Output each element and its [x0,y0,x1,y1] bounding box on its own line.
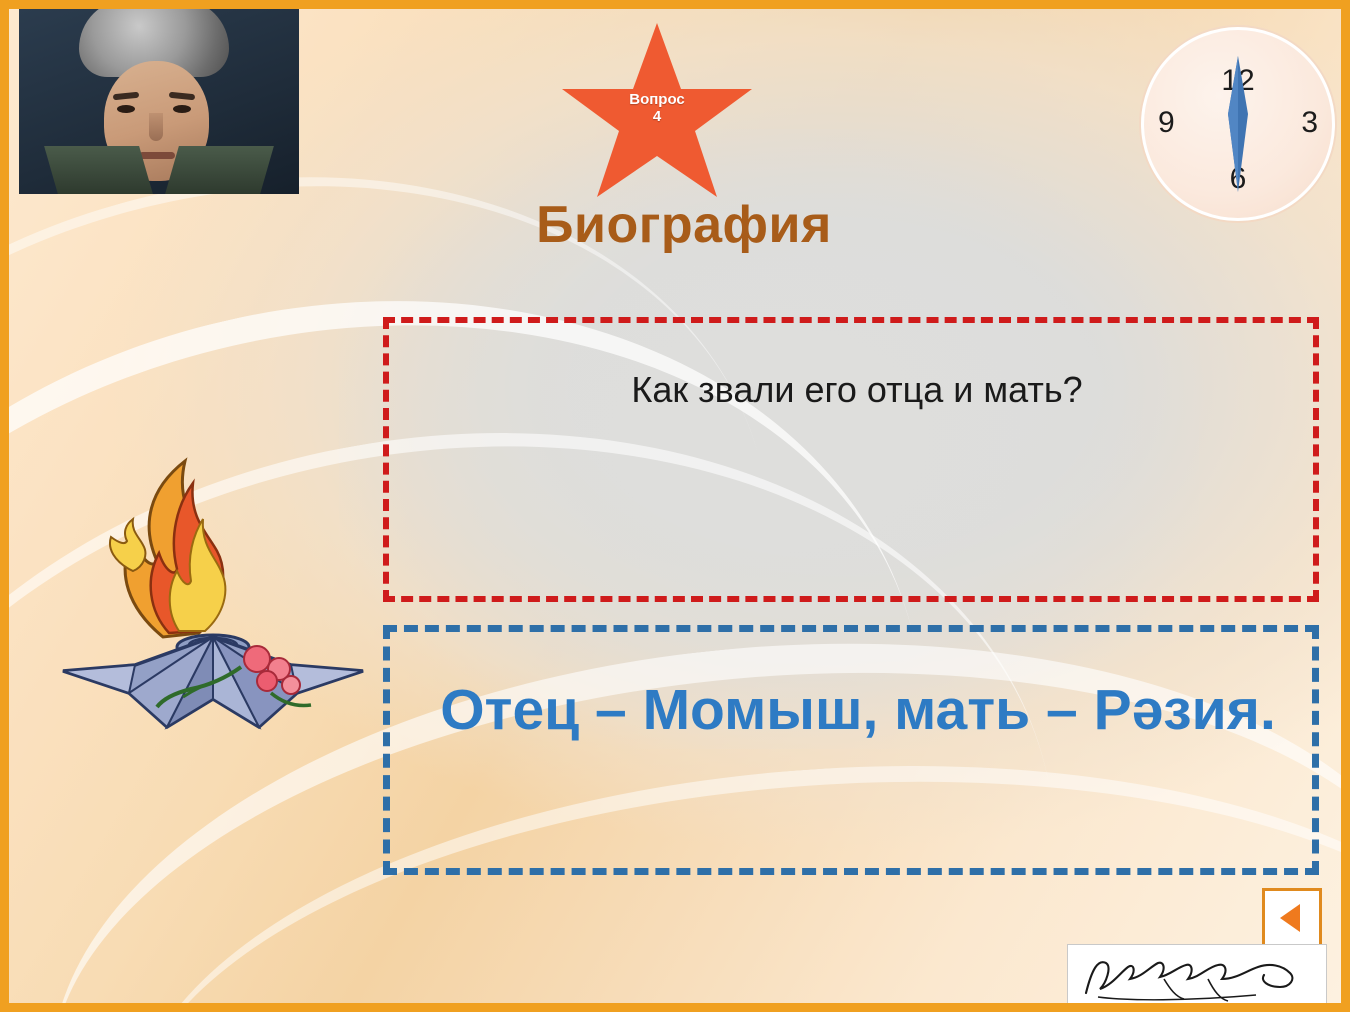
question-word-label: Вопрос [561,91,753,108]
answer-panel: Отец – Момыш, мать – Рәзия. [383,625,1319,875]
back-button[interactable] [1262,888,1322,948]
eye-shape [117,105,135,113]
uniform-collar-shape [44,146,153,194]
clock-hand-icon [1221,56,1255,192]
signature-image [1067,944,1327,1012]
question-index-label: 4 [561,108,753,125]
mouth-shape [139,152,175,159]
clock-icon: 12 3 6 9 [1141,27,1335,221]
question-number-label: Вопрос 4 [561,91,753,126]
question-text: Как звали его отца и мать? [389,369,1325,411]
uniform-collar-shape [165,146,274,194]
nose-shape [149,113,163,141]
question-panel: Как звали его отца и мать? [383,317,1319,602]
answer-text: Отец – Момыш, мать – Рәзия. [408,674,1308,747]
question-number-badge: Вопрос 4 [561,19,753,201]
clock-numeral-3: 3 [1301,106,1318,140]
clock-numeral-9: 9 [1158,106,1175,140]
eye-shape [173,105,191,113]
eternal-flame-icon [45,441,375,731]
triangle-left-icon[interactable] [1275,901,1309,935]
handwritten-signature-icon [1068,945,1326,1011]
slide-canvas: Вопрос 4 12 3 6 9 Биография Как звали ег… [0,0,1350,1012]
portrait-photo [19,9,299,194]
page-title: Биография [9,195,1350,255]
